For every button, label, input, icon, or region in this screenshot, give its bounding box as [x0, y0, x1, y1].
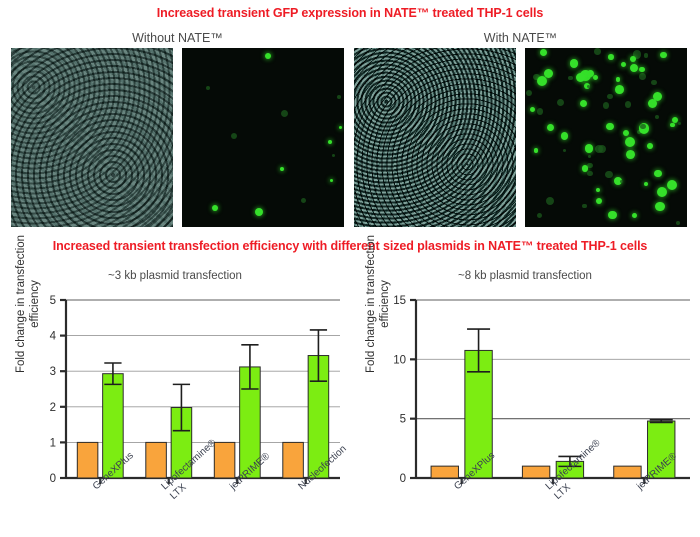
bar-control-0[interactable] [431, 466, 458, 478]
y-tick-label: 5 [400, 414, 406, 426]
y-tick-label: 10 [393, 354, 406, 366]
transfection-efficiency-title: Increased transient transfection efficie… [0, 239, 700, 253]
chart-title: ~8 kb plasmid transfection [350, 270, 700, 288]
micrograph-group-label: Without NATE™ [11, 28, 344, 48]
bar-chart-svg: 051015GeneXPlusLipofectamine®LTXjetPRIME… [350, 288, 700, 536]
y-tick-label: 15 [393, 295, 406, 307]
y-tick-label: 5 [50, 295, 56, 307]
y-tick-label: 2 [50, 402, 56, 414]
micrograph-group-without-nate: Without NATE™ [11, 28, 344, 227]
micrograph-panel-row [354, 48, 687, 227]
chart-3kb-plasmid: ~3 kb plasmid transfection Fold change i… [0, 268, 350, 537]
category-label-line: Lipofectamine® [544, 437, 604, 492]
bar-control-1[interactable] [146, 442, 167, 478]
micrograph-section: Without NATE™ With NATE™ [0, 28, 700, 233]
fluorescence-panel-with-nate [525, 48, 687, 227]
y-tick-label: 0 [400, 473, 406, 485]
y-tick-label: 4 [50, 331, 57, 343]
brightfield-panel-with-nate [354, 48, 516, 227]
bar-control-2[interactable] [214, 442, 235, 478]
bar-control-3[interactable] [283, 442, 304, 478]
micrograph-panel-row [11, 48, 344, 227]
chart-title: ~3 kb plasmid transfection [0, 270, 350, 288]
chart-8kb-plasmid: ~8 kb plasmid transfection Fold change i… [350, 268, 700, 537]
bar-control-2[interactable] [614, 466, 641, 478]
micrograph-group-with-nate: With NATE™ [354, 28, 687, 227]
micrograph-group-label: With NATE™ [354, 28, 687, 48]
bar-chart-svg: 012345GeneXPlusLipofectamine®LTXjetPRIME… [0, 288, 350, 536]
y-tick-label: 1 [50, 437, 56, 449]
bar-control-1[interactable] [522, 466, 549, 478]
y-tick-label: 3 [50, 366, 56, 378]
brightfield-panel-without-nate [11, 48, 173, 227]
gfp-expression-title: Increased transient GFP expression in NA… [0, 6, 700, 20]
plot-area: Fold change in transfection efficiency 0… [350, 288, 700, 536]
y-tick-label: 0 [50, 473, 56, 485]
plot-area: Fold change in transfection efficiency 0… [0, 288, 350, 536]
fluorescence-panel-without-nate [182, 48, 344, 227]
bar-control-0[interactable] [77, 442, 98, 478]
